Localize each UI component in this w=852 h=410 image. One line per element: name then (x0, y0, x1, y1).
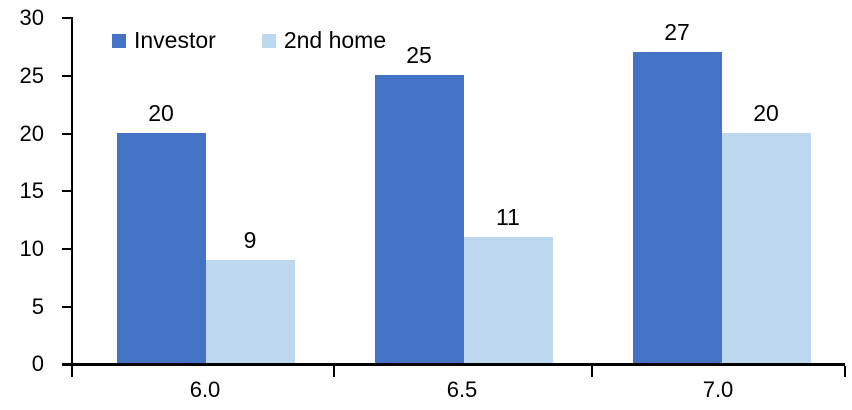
bar-investor-7-0[interactable] (633, 52, 722, 364)
y-axis-label-5: 5 (0, 296, 44, 318)
y-axis-label-15: 15 (0, 180, 44, 202)
x-tick-1 (333, 366, 335, 377)
bar-label-investor-6-5: 25 (359, 44, 479, 67)
y-axis-label-0: 0 (0, 353, 44, 375)
bar-label-2nd-home-6-5: 11 (448, 206, 568, 229)
bar-label-2nd-home-6-0: 9 (190, 229, 310, 252)
y-tick-25 (62, 75, 72, 77)
bar-label-investor-7-0: 27 (617, 21, 737, 44)
plot-area: 20 9 25 11 27 20 (72, 17, 845, 364)
y-axis-label-30: 30 (0, 7, 44, 29)
bar-chart: Investor 2nd home 30 25 20 15 10 5 0 20 … (0, 0, 852, 410)
y-axis-label-10: 10 (0, 238, 44, 260)
bar-label-investor-6-0: 20 (101, 102, 221, 125)
x-axis-label-7-0: 7.0 (648, 379, 788, 401)
y-tick-20 (62, 133, 72, 135)
bar-2nd-home-7-0[interactable] (722, 133, 811, 364)
y-tick-30 (62, 17, 72, 19)
y-tick-10 (62, 248, 72, 250)
bar-2nd-home-6-0[interactable] (206, 260, 295, 364)
y-tick-5 (62, 306, 72, 308)
y-axis-label-20: 20 (0, 123, 44, 145)
y-axis-label-25: 25 (0, 65, 44, 87)
x-tick-start (71, 366, 73, 377)
bar-2nd-home-6-5[interactable] (464, 237, 553, 364)
x-tick-2 (591, 366, 593, 377)
x-tick-end (844, 366, 846, 377)
y-tick-15 (62, 190, 72, 192)
x-axis-label-6-5: 6.5 (392, 379, 532, 401)
bar-label-2nd-home-7-0: 20 (706, 102, 826, 125)
x-axis-line (62, 363, 845, 366)
x-axis-label-6-0: 6.0 (135, 379, 275, 401)
